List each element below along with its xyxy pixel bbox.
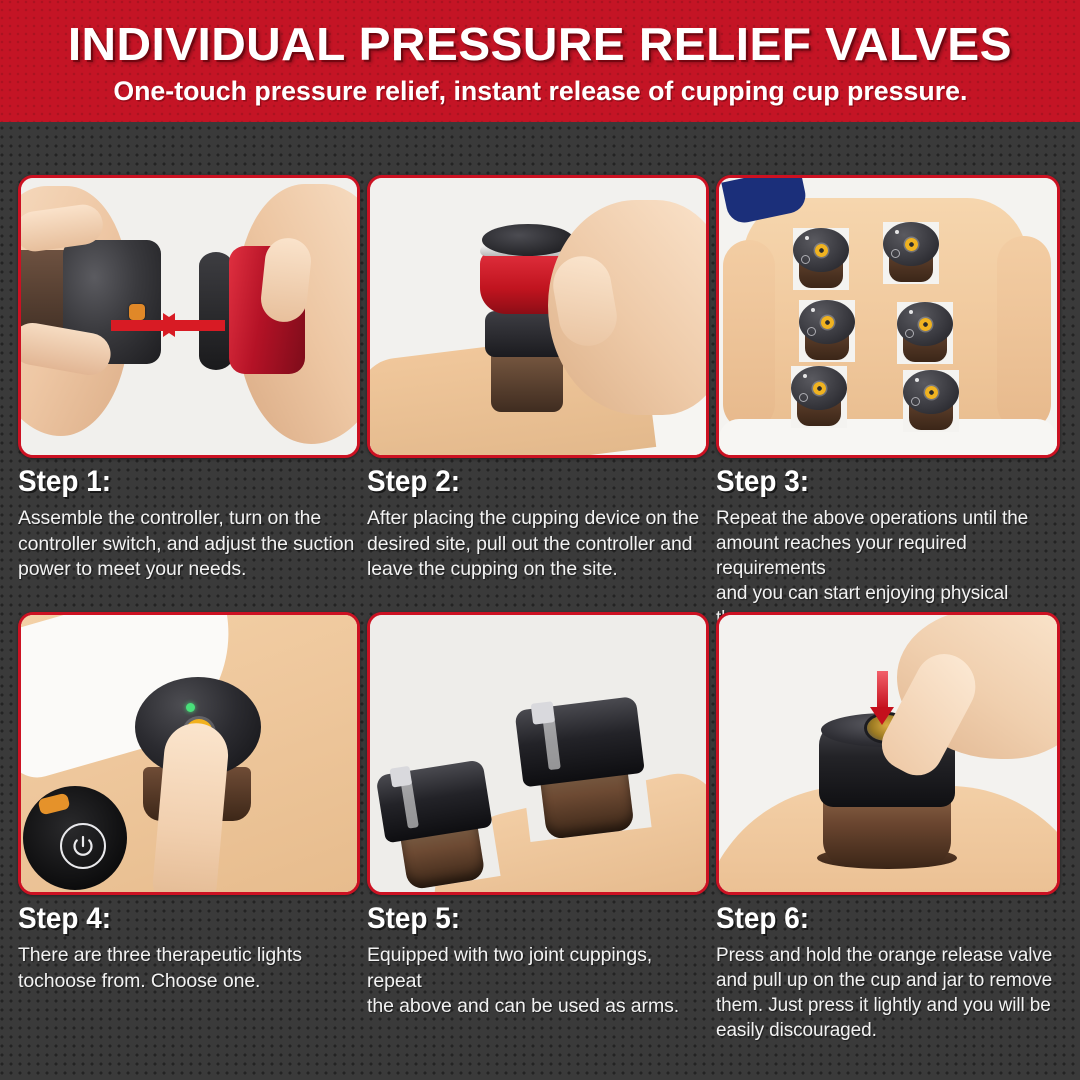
therapeutic-lights-illustration	[21, 615, 357, 892]
step-5-image	[367, 612, 709, 895]
step-4-label: Step 4:	[18, 904, 337, 934]
cup-1	[793, 228, 849, 290]
release-valve-icon	[815, 244, 828, 257]
led-indicator	[186, 703, 195, 712]
led-indicator	[803, 374, 807, 378]
assemble-controller-illustration	[21, 178, 357, 455]
step-cell-1: Step 1: Assemble the controller, turn on…	[18, 175, 367, 612]
cap-tab	[390, 766, 412, 788]
power-button	[60, 823, 106, 869]
step-6-description: Press and hold the orange release valve …	[716, 943, 1056, 1043]
cup-3	[799, 300, 855, 362]
step-3-caption: Step 3: Repeat the above operations unti…	[716, 458, 1056, 631]
steps-grid: Step 1: Assemble the controller, turn on…	[18, 175, 1062, 1065]
cup-glass	[491, 350, 563, 412]
step-4-image	[18, 612, 360, 895]
cup-2	[883, 222, 939, 284]
step-1-description: Assemble the controller, turn on the con…	[18, 506, 361, 583]
vent-ring-icon	[807, 327, 816, 336]
step-2-image	[367, 175, 709, 458]
vent-ring-icon	[801, 255, 810, 264]
step-4-caption: Step 4: There are three therapeutic ligh…	[18, 895, 361, 994]
six-cups-on-back-illustration	[719, 178, 1057, 455]
step-cell-4: Step 4: There are three therapeutic ligh…	[18, 612, 367, 1065]
step-2-description: After placing the cupping device on the …	[367, 506, 710, 583]
cup-6	[903, 370, 959, 432]
joint-cuppings-illustration	[370, 615, 706, 892]
vent-ring-icon	[905, 329, 914, 338]
step-1-image	[18, 175, 360, 458]
release-valve-icon	[129, 304, 145, 320]
led-indicator	[895, 230, 899, 234]
page-subtitle: One-touch pressure relief, instant relea…	[113, 78, 967, 105]
led-indicator	[805, 236, 809, 240]
place-device-illustration	[370, 178, 706, 455]
release-valve-icon	[813, 382, 826, 395]
step-5-label: Step 5:	[367, 904, 686, 934]
led-indicator	[915, 378, 919, 382]
led-indicator	[909, 310, 913, 314]
step-3-label: Step 3:	[716, 467, 1032, 497]
step-5-description: Equipped with two joint cuppings, repeat…	[367, 943, 710, 1020]
release-valve-icon	[905, 238, 918, 251]
valve-detail	[38, 793, 71, 816]
release-valve-icon	[919, 318, 932, 331]
release-valve-icon	[925, 386, 938, 399]
step-2-caption: Step 2: After placing the cupping device…	[367, 458, 710, 583]
bed-sheet	[719, 419, 1057, 458]
right-arm	[997, 236, 1051, 431]
controller-ring	[199, 252, 233, 370]
step-6-image	[716, 612, 1060, 895]
step-cell-6: Step 6: Press and hold the orange releas…	[716, 612, 1062, 1065]
joint-cup-left	[375, 759, 500, 892]
step-4-description: There are three therapeutic lights tocho…	[18, 943, 361, 994]
release-valve-icon	[821, 316, 834, 329]
step-cell-2: Step 2: After placing the cupping device…	[367, 175, 716, 612]
step-1-caption: Step 1: Assemble the controller, turn on…	[18, 458, 361, 583]
step-3-image	[716, 175, 1060, 458]
cup-4	[897, 302, 953, 364]
vent-ring-icon	[911, 397, 920, 406]
step-6-caption: Step 6: Press and hold the orange releas…	[716, 895, 1056, 1043]
step-cell-5: Step 5: Equipped with two joint cuppings…	[367, 612, 716, 1065]
infographic-page: INDIVIDUAL PRESSURE RELIEF VALVES One-to…	[0, 0, 1080, 1080]
step-5-caption: Step 5: Equipped with two joint cuppings…	[367, 895, 710, 1020]
header-banner: INDIVIDUAL PRESSURE RELIEF VALVES One-to…	[0, 0, 1080, 122]
step-cell-3: Step 3: Repeat the above operations unti…	[716, 175, 1062, 612]
cap-tab	[531, 701, 555, 725]
step-2-label: Step 2:	[367, 467, 686, 497]
joint-cup-right	[514, 696, 651, 842]
vent-ring-icon	[799, 393, 808, 402]
step-1-label: Step 1:	[18, 467, 337, 497]
led-indicator	[811, 308, 815, 312]
release-valve-illustration	[719, 615, 1057, 892]
arrow-left-icon	[173, 320, 225, 331]
left-arm	[723, 240, 775, 430]
vent-ring-icon	[891, 249, 900, 258]
step-6-label: Step 6:	[716, 904, 1032, 934]
power-icon	[71, 834, 95, 858]
cup-5	[791, 366, 847, 428]
arrow-down-icon	[877, 671, 888, 709]
power-button-inset	[23, 786, 127, 890]
page-title: INDIVIDUAL PRESSURE RELIEF VALVES	[68, 21, 1012, 67]
